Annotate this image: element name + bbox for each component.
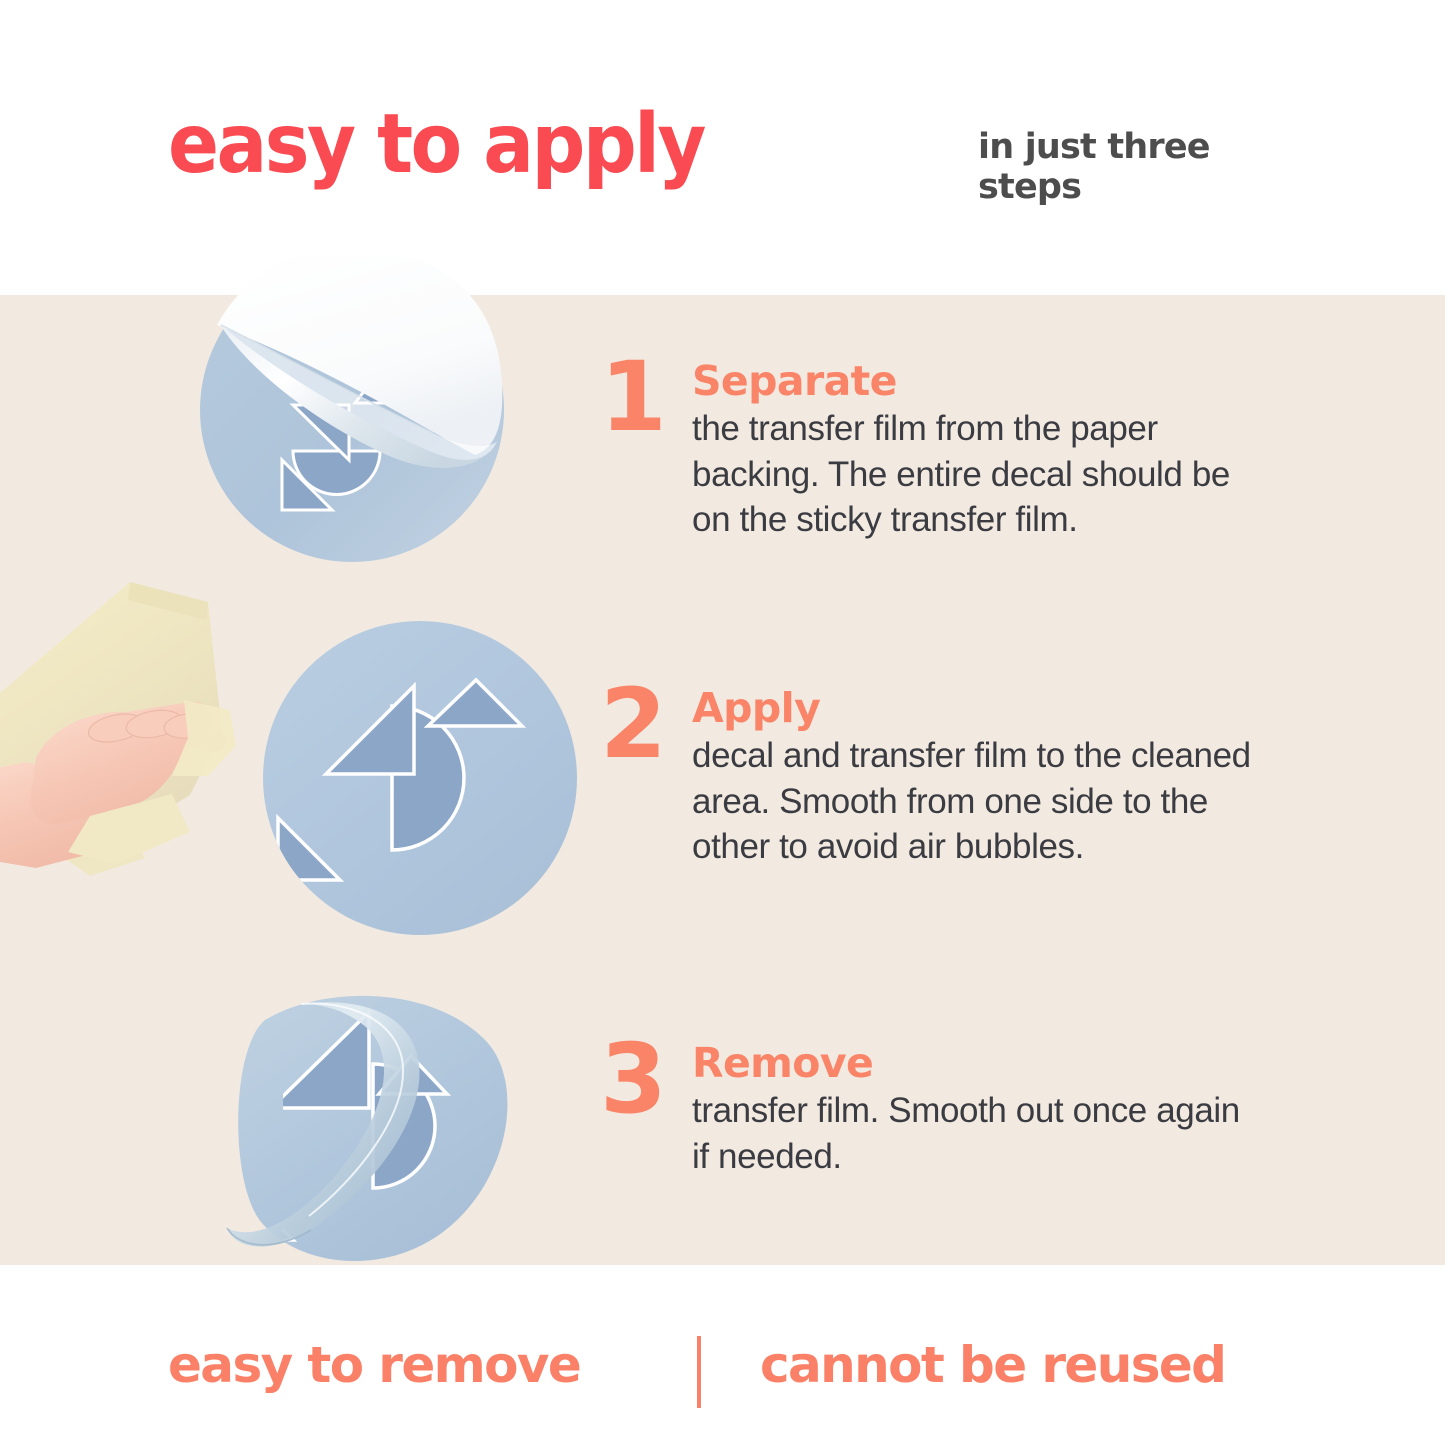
step-number-3: 3 [600, 1040, 692, 1119]
header-band: easy to apply in just three steps [0, 0, 1445, 295]
step-body-3: Remove transfer film. Smooth out once ag… [692, 1040, 1252, 1179]
step-number-2: 2 [600, 685, 692, 764]
step-text-3: transfer film. Smooth out once again if … [692, 1088, 1252, 1178]
infographic-page: easy to apply in just three steps [0, 0, 1445, 1445]
step-body-1: Separate the transfer film from the pape… [692, 358, 1252, 542]
step-body-2: Apply decal and transfer film to the cle… [692, 685, 1252, 869]
step-heading-remove: Remove [692, 1042, 1252, 1085]
step-number-1: 1 [600, 358, 692, 437]
step-text-2: decal and transfer film to the cleaned a… [692, 733, 1252, 868]
step-item-2: 2 Apply decal and transfer film to the c… [600, 685, 1252, 869]
page-subtitle: in just three steps [978, 127, 1248, 208]
step-3-illustration [205, 990, 525, 1290]
step-heading-apply: Apply [692, 687, 1252, 730]
footer-divider [697, 1336, 701, 1408]
hand-with-cloth-illustration [0, 580, 360, 920]
footer-easy-to-remove: easy to remove [168, 1340, 580, 1390]
step-item-3: 3 Remove transfer film. Smooth out once … [600, 1040, 1252, 1179]
footer-cannot-be-reused: cannot be reused [760, 1340, 1225, 1390]
step-item-1: 1 Separate the transfer film from the pa… [600, 358, 1252, 542]
step-text-1: the transfer film from the paper backing… [692, 406, 1252, 541]
step-1-illustration [197, 255, 507, 565]
step-heading-separate: Separate [692, 360, 1252, 403]
page-title: easy to apply [168, 104, 704, 186]
